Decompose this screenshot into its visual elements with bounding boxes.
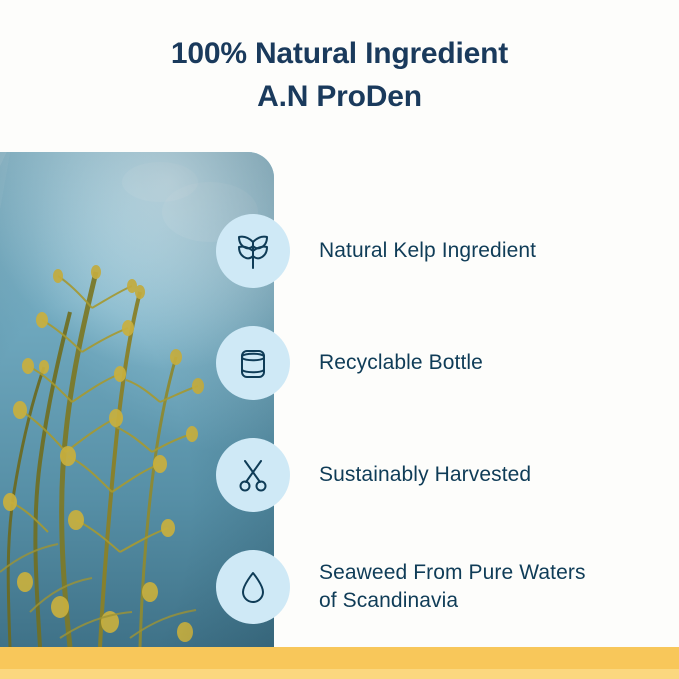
water-drop-icon	[216, 550, 290, 624]
feature-item-4: Seaweed From Pure Waters of Scandinavia	[216, 546, 586, 628]
bottle-icon	[216, 326, 290, 400]
feature-label-3: Sustainably Harvested	[319, 461, 531, 489]
bottom-accent-band-inner	[0, 669, 679, 679]
bottom-accent-band	[0, 647, 679, 679]
feature-label-1: Natural Kelp Ingredient	[319, 237, 536, 265]
scissors-icon	[216, 438, 290, 512]
infographic-page: 100% Natural Ingredient A.N ProDen	[0, 0, 679, 679]
feature-label-2: Recyclable Bottle	[319, 349, 483, 377]
page-title-line-2: A.N ProDen	[0, 77, 679, 117]
page-title: 100% Natural Ingredient A.N ProDen	[0, 34, 679, 117]
feature-label-4: Seaweed From Pure Waters of Scandinavia	[319, 559, 586, 615]
feature-item-3: Sustainably Harvested	[216, 434, 531, 516]
feature-item-2: Recyclable Bottle	[216, 322, 483, 404]
kelp-leaf-icon	[216, 214, 290, 288]
page-title-line-1: 100% Natural Ingredient	[0, 34, 679, 74]
feature-item-1: Natural Kelp Ingredient	[216, 210, 536, 292]
